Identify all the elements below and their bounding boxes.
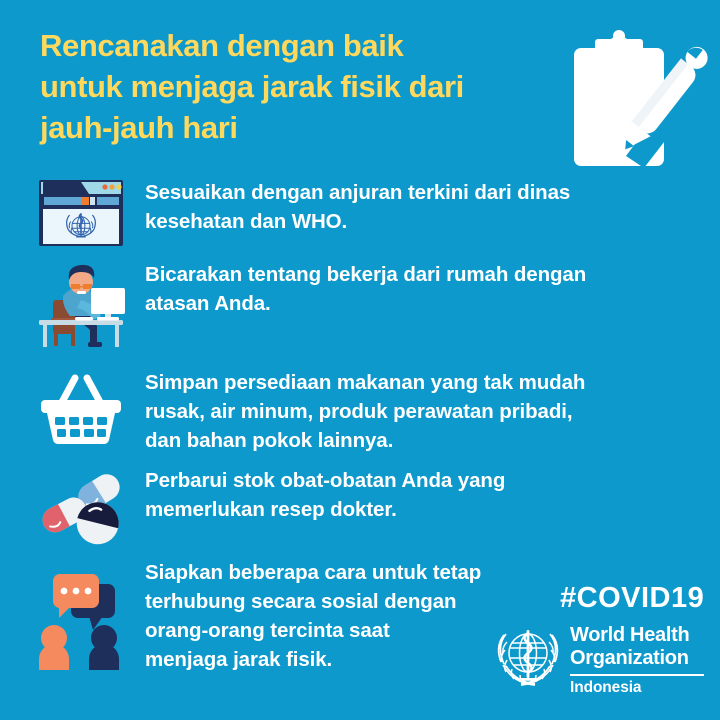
infographic-poster: Rencanakan dengan baik untuk menjaga jar…: [0, 0, 720, 720]
shopping-basket-icon: [26, 368, 136, 448]
clipboard-pencil-icon: [560, 26, 710, 171]
who-divider: [570, 674, 704, 676]
who-emblem-icon: [492, 622, 564, 694]
who-logo: World Health Organization Indonesia: [492, 622, 706, 700]
browser-who-window-icon: [26, 178, 136, 250]
who-wordmark: World Health Organization Indonesia: [570, 624, 706, 697]
page-title: Rencanakan dengan baik untuk menjaga jar…: [40, 26, 560, 149]
chat-bubbles-people-icon: [26, 558, 136, 670]
who-organization-name: World Health Organization: [570, 624, 706, 670]
list-item-text: Bicarakan tentang bekerja dari rumah den…: [145, 260, 615, 318]
who-country-name: Indonesia: [570, 679, 706, 697]
hashtag-covid19: #COVID19: [560, 582, 704, 615]
person-working-at-desk-icon: [26, 260, 136, 352]
list-item-text: Sesuaikan dengan anjuran terkini dari di…: [145, 178, 615, 236]
medicine-capsules-icon: [26, 466, 136, 546]
list-item-text: Perbarui stok obat-obatan Anda yang meme…: [145, 466, 615, 524]
list-item-text: Simpan persediaan makanan yang tak mudah…: [145, 368, 615, 455]
